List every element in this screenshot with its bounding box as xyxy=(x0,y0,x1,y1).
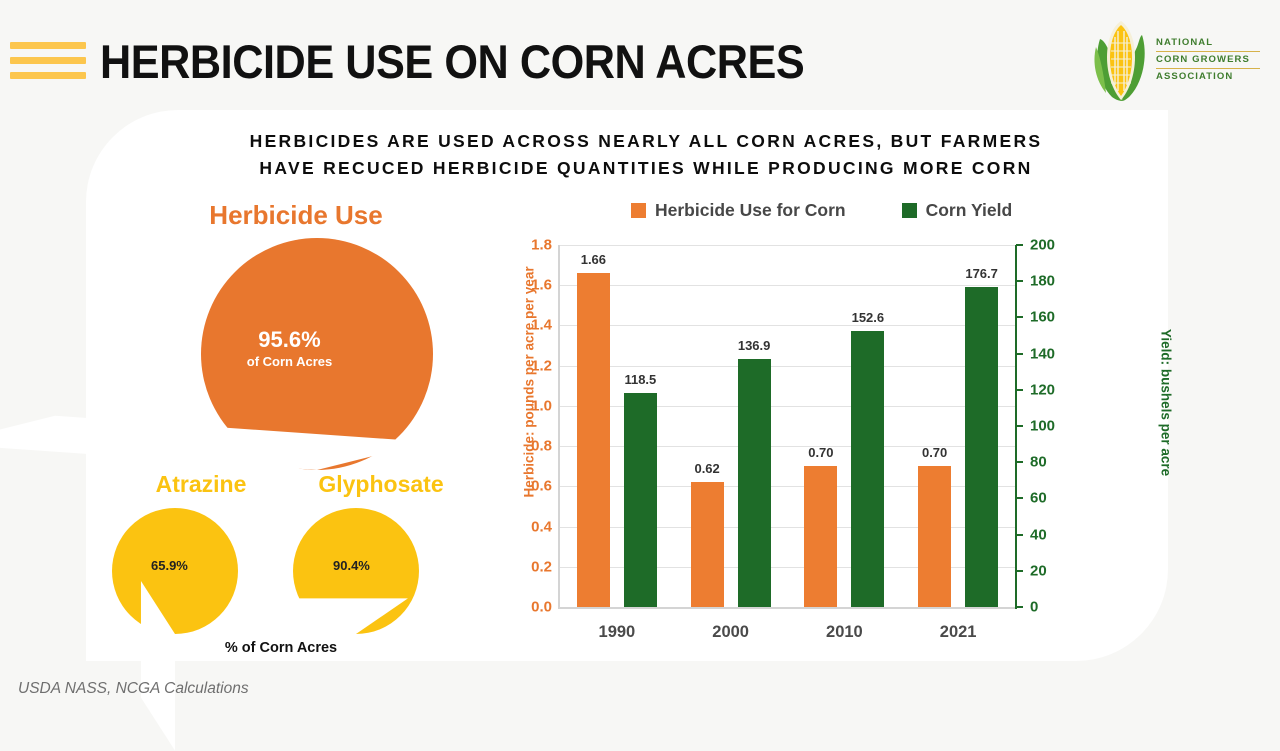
logo-divider xyxy=(1156,68,1260,69)
logo-line-corn-growers: CORN GROWERS xyxy=(1156,54,1260,66)
legend-item-herbicide[interactable]: Herbicide Use for Corn xyxy=(631,200,846,221)
x-axis-label: 2010 xyxy=(788,623,902,642)
hamburger-icon xyxy=(10,42,86,80)
right-tick-label: 0 xyxy=(1030,599,1038,616)
logo-line-association: ASSOCIATION xyxy=(1156,71,1260,83)
right-tickmark xyxy=(1016,497,1023,499)
bar-group: 0.62136.92000 xyxy=(674,245,788,607)
right-tickmark xyxy=(1016,316,1023,318)
bar-herbicide[interactable]: 0.70 xyxy=(804,466,837,607)
herbicide-use-pie xyxy=(201,238,433,470)
bar-yield[interactable]: 136.9 xyxy=(738,359,771,607)
corn-cob-icon xyxy=(1090,17,1152,103)
right-tickmark xyxy=(1016,534,1023,536)
bar-value-label: 1.66 xyxy=(581,252,606,267)
card-subtitle: HERBICIDES ARE USED ACROSS NEARLY ALL CO… xyxy=(146,128,1146,182)
left-tick-label: 1.4 xyxy=(531,317,552,334)
bar-value-label: 118.5 xyxy=(624,372,656,387)
bar-chart: Herbicide Use for CornCorn Yield Herbici… xyxy=(486,200,1166,660)
right-tick-label: 200 xyxy=(1030,237,1055,254)
left-tick-label: 1.8 xyxy=(531,237,552,254)
atrazine-percent: 65.9% xyxy=(151,558,188,573)
left-tick-label: 0.2 xyxy=(531,558,552,575)
right-tick-label: 120 xyxy=(1030,381,1055,398)
right-axis-line xyxy=(1015,245,1017,609)
right-tick-label: 80 xyxy=(1030,454,1047,471)
right-axis-ticks: 020406080100120140160180200 xyxy=(1016,245,1062,607)
herbicide-use-title: Herbicide Use xyxy=(146,200,446,231)
right-tickmark xyxy=(1016,461,1023,463)
bar-yield[interactable]: 118.5 xyxy=(624,393,657,607)
hamburger-bar xyxy=(10,72,86,79)
right-tick-label: 40 xyxy=(1030,526,1047,543)
right-tickmark xyxy=(1016,280,1023,282)
chart-legend: Herbicide Use for CornCorn Yield xyxy=(631,200,1012,221)
logo-wordmark: NATIONAL CORN GROWERS ASSOCIATION xyxy=(1156,37,1260,83)
pie-remainder-slice xyxy=(0,416,430,470)
right-tick-label: 20 xyxy=(1030,562,1047,579)
bar-value-label: 0.70 xyxy=(808,445,833,460)
left-tick-label: 1.2 xyxy=(531,357,552,374)
page-title: HERBICIDE USE ON CORN ACRES xyxy=(100,34,804,89)
right-tick-label: 160 xyxy=(1030,309,1055,326)
source-note: USDA NASS, NCGA Calculations xyxy=(18,680,249,698)
x-axis-label: 1990 xyxy=(560,623,674,642)
x-axis-label: 2021 xyxy=(901,623,1015,642)
glyphosate-title: Glyphosate xyxy=(281,471,481,498)
bar-herbicide[interactable]: 0.70 xyxy=(918,466,951,607)
atrazine-title: Atrazine xyxy=(106,471,296,498)
right-tickmark xyxy=(1016,353,1023,355)
ncga-logo: NATIONAL CORN GROWERS ASSOCIATION xyxy=(1090,17,1262,103)
legend-item-yield[interactable]: Corn Yield xyxy=(902,200,1013,221)
right-tick-label: 180 xyxy=(1030,273,1055,290)
content-card: HERBICIDES ARE USED ACROSS NEARLY ALL CO… xyxy=(86,110,1168,661)
left-tick-label: 1.6 xyxy=(531,277,552,294)
page-header: HERBICIDE USE ON CORN ACRES NATIONAL COR… xyxy=(0,0,1280,110)
bar-group: 0.70152.62010 xyxy=(788,245,902,607)
right-tick-label: 140 xyxy=(1030,345,1055,362)
bar-value-label: 152.6 xyxy=(852,310,885,325)
bar-yield[interactable]: 176.7 xyxy=(965,287,998,607)
x-axis-label: 2000 xyxy=(674,623,788,642)
left-axis-ticks: 0.00.20.40.60.81.01.21.41.61.8 xyxy=(510,245,552,607)
subtitle-line-2: HAVE RECUCED HERBICIDE QUANTITIES WHILE … xyxy=(146,155,1146,182)
logo-divider xyxy=(1156,51,1260,52)
legend-swatch-icon xyxy=(631,203,646,218)
pie-remainder-slice xyxy=(245,598,408,634)
glyphosate-percent: 90.4% xyxy=(333,558,370,573)
left-tick-label: 0.8 xyxy=(531,438,552,455)
bar-value-label: 0.62 xyxy=(694,461,719,476)
legend-label: Corn Yield xyxy=(926,200,1013,221)
left-tick-label: 0.4 xyxy=(531,518,552,535)
bar-value-label: 136.9 xyxy=(738,338,771,353)
bar-yield[interactable]: 152.6 xyxy=(851,331,884,607)
bar-group: 1.66118.51990 xyxy=(560,245,674,607)
pie-axis-caption: % of Corn Acres xyxy=(166,640,396,656)
hamburger-bar xyxy=(10,57,86,64)
right-tickmark xyxy=(1016,606,1023,608)
bar-value-label: 176.7 xyxy=(965,266,998,281)
left-tick-label: 0.6 xyxy=(531,478,552,495)
right-axis-title: Yield: bushels per acre xyxy=(1159,313,1174,493)
bar-value-label: 0.70 xyxy=(922,445,947,460)
right-tick-label: 60 xyxy=(1030,490,1047,507)
logo-line-national: NATIONAL xyxy=(1156,37,1260,49)
bar-herbicide[interactable]: 1.66 xyxy=(577,273,610,607)
right-tickmark xyxy=(1016,244,1023,246)
pie-chart-panel: Herbicide Use 95.6% of Corn Acres Atrazi… xyxy=(86,190,506,660)
right-tickmark xyxy=(1016,570,1023,572)
left-tick-label: 1.0 xyxy=(531,397,552,414)
chart-plot-area: Herbicide: pounds per acre per year Yiel… xyxy=(486,245,1166,660)
right-tickmark xyxy=(1016,389,1023,391)
pie-remainder-slice xyxy=(141,581,175,751)
bar-herbicide[interactable]: 0.62 xyxy=(691,482,724,607)
left-tick-label: 0.0 xyxy=(531,599,552,616)
legend-swatch-icon xyxy=(902,203,917,218)
subtitle-line-1: HERBICIDES ARE USED ACROSS NEARLY ALL CO… xyxy=(250,131,1043,151)
legend-label: Herbicide Use for Corn xyxy=(655,200,846,221)
bar-group: 0.70176.72021 xyxy=(901,245,1015,607)
right-tickmark xyxy=(1016,425,1023,427)
right-tick-label: 100 xyxy=(1030,418,1055,435)
plot-bars-region: 1.66118.519900.62136.920000.70152.620100… xyxy=(558,245,1015,609)
hamburger-bar xyxy=(10,42,86,49)
